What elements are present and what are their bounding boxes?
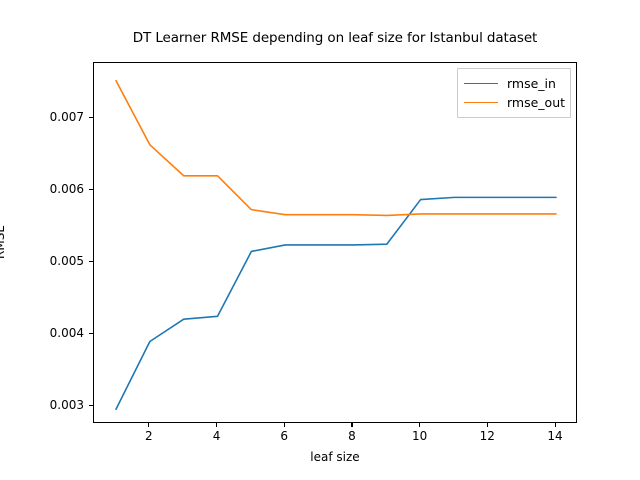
legend-label: rmse_out bbox=[507, 95, 565, 110]
legend-item-rmse_out: rmse_out bbox=[464, 93, 564, 112]
y-tick-label: 0.006 bbox=[30, 182, 84, 196]
legend-label: rmse_in bbox=[507, 76, 556, 91]
legend-swatch-icon bbox=[464, 83, 498, 84]
legend: rmse_inrmse_out bbox=[457, 68, 571, 118]
x-axis-label: leaf size bbox=[93, 450, 577, 464]
x-tick-label: 6 bbox=[280, 429, 288, 443]
x-tick-label: 2 bbox=[145, 429, 153, 443]
legend-item-rmse_in: rmse_in bbox=[464, 74, 564, 93]
series-line-rmse_in bbox=[116, 197, 556, 409]
x-tick-label: 10 bbox=[412, 429, 427, 443]
chart-title: DT Learner RMSE depending on leaf size f… bbox=[93, 30, 577, 46]
figure-canvas: DT Learner RMSE depending on leaf size f… bbox=[0, 0, 640, 480]
y-axis-label: RMSE bbox=[0, 225, 7, 259]
legend-swatch-icon bbox=[464, 102, 498, 103]
y-tick-label: 0.005 bbox=[30, 254, 84, 268]
x-tick-label: 14 bbox=[547, 429, 562, 443]
y-tick-label: 0.004 bbox=[30, 326, 84, 340]
x-tick-label: 8 bbox=[348, 429, 356, 443]
x-tick-label: 12 bbox=[480, 429, 495, 443]
y-tick-label: 0.003 bbox=[30, 398, 84, 412]
x-tick-label: 4 bbox=[213, 429, 221, 443]
y-tick-label: 0.007 bbox=[30, 110, 84, 124]
